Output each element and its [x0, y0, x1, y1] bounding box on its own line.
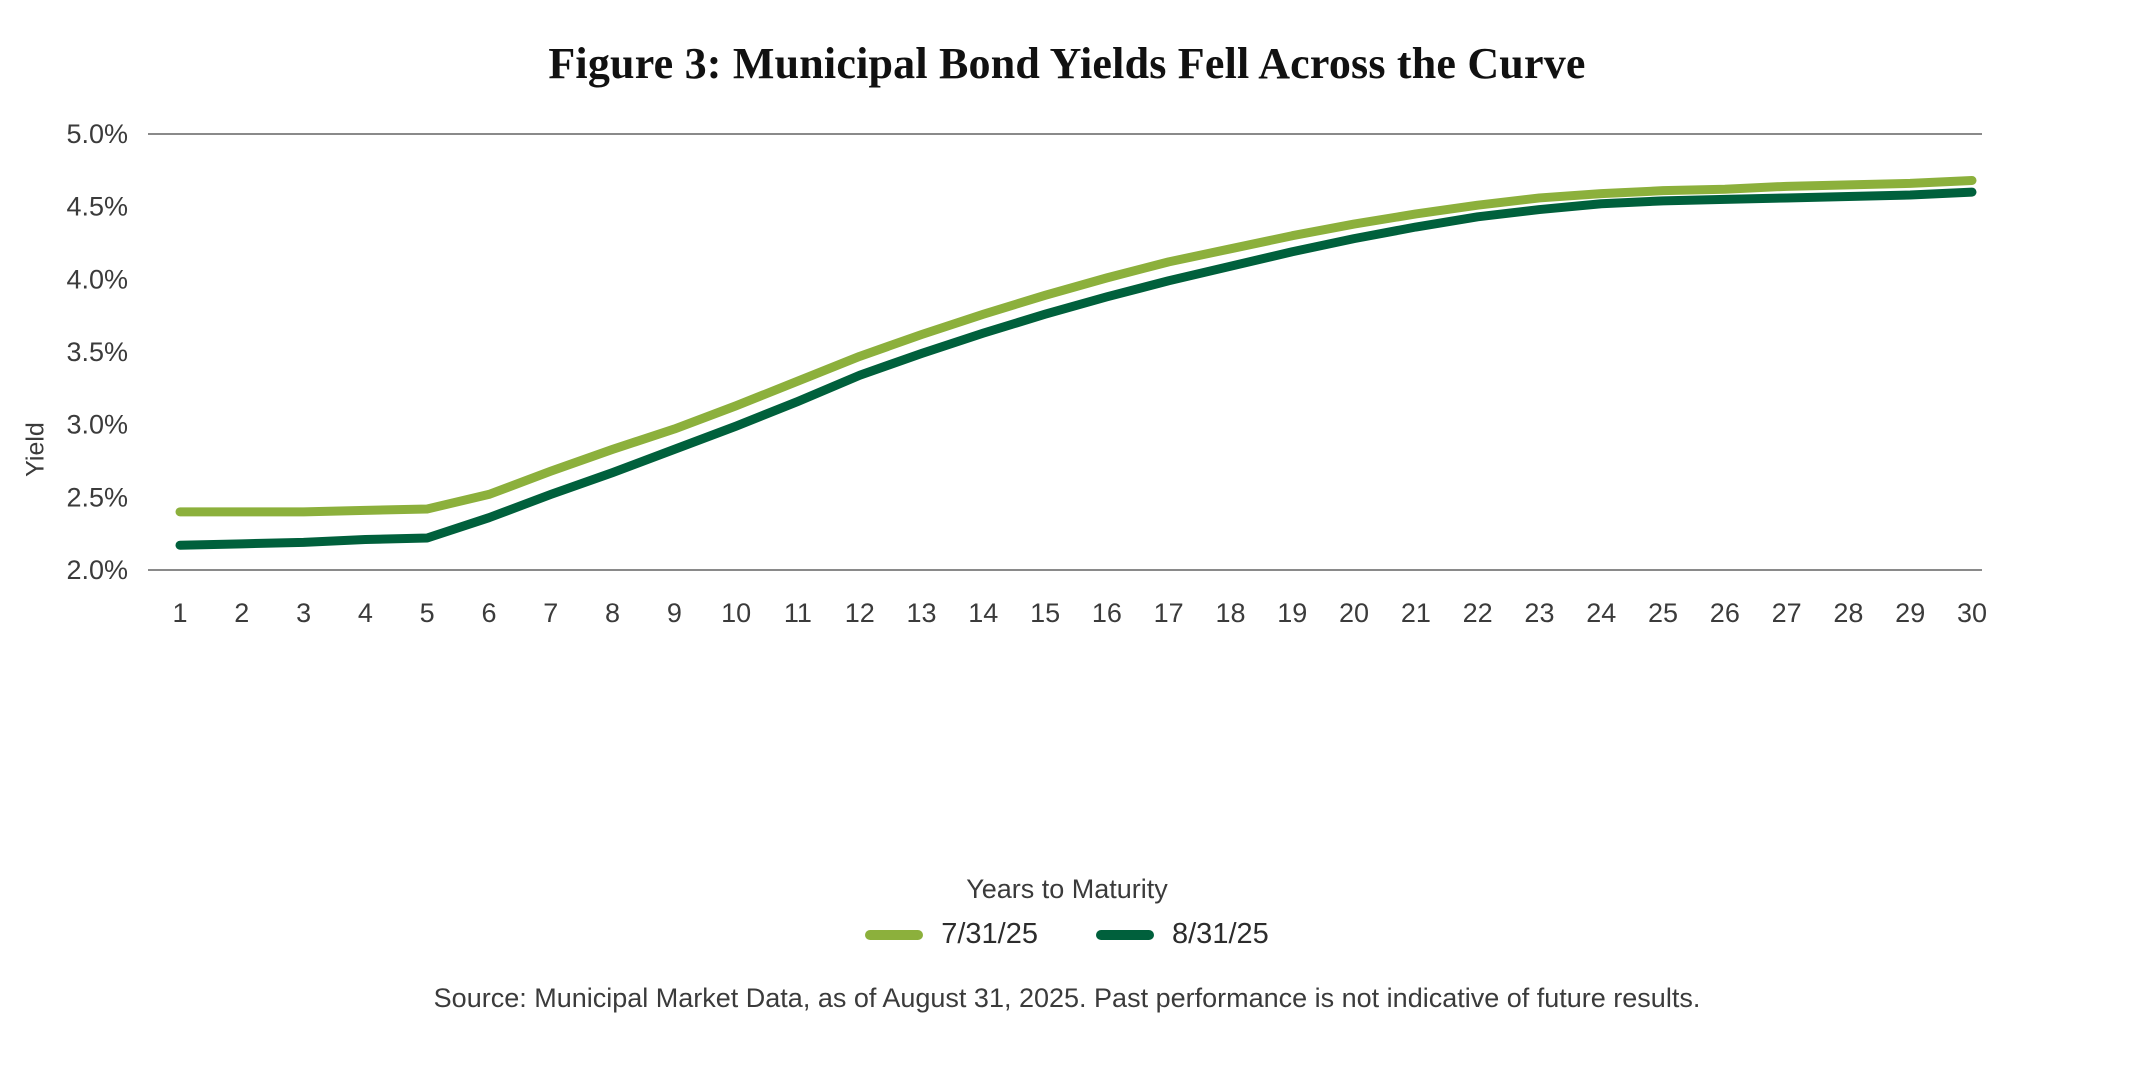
x-axis-tick-label: 15 [1030, 598, 1060, 628]
y-axis-tick-label: 2.5% [66, 482, 128, 512]
y-axis-tick-label: 2.0% [66, 555, 128, 585]
y-axis-tick-label: 4.5% [66, 192, 128, 222]
x-axis-title: Years to Maturity [0, 874, 2134, 905]
x-axis-tick-label: 24 [1586, 598, 1616, 628]
legend-swatch-series-1 [865, 930, 923, 940]
x-axis-tick-label: 8 [605, 598, 620, 628]
x-axis-tick-label: 13 [906, 598, 936, 628]
x-axis-tick-label: 16 [1092, 598, 1122, 628]
legend-label-series-1: 7/31/25 [941, 918, 1038, 951]
x-axis-tick-label: 23 [1524, 598, 1554, 628]
x-axis-tick-label: 22 [1463, 598, 1493, 628]
x-axis-tick-label: 3 [296, 598, 311, 628]
figure-container: Figure 3: Municipal Bond Yields Fell Acr… [0, 0, 2134, 1067]
x-axis-tick-label: 27 [1772, 598, 1802, 628]
x-axis-tick-label: 17 [1154, 598, 1184, 628]
series-line-2 [180, 192, 1972, 545]
legend-swatch-series-2 [1096, 930, 1154, 940]
x-axis-tick-label: 10 [721, 598, 751, 628]
x-axis-tick-label: 18 [1215, 598, 1245, 628]
x-axis-tick-label: 7 [543, 598, 558, 628]
x-axis-tick-label: 28 [1833, 598, 1863, 628]
x-axis-tick-label: 11 [784, 598, 812, 628]
x-axis-tick-label: 2 [234, 598, 249, 628]
y-axis-tick-label: 3.5% [66, 337, 128, 367]
x-axis-tick-label: 14 [968, 598, 998, 628]
legend-label-series-2: 8/31/25 [1172, 918, 1269, 951]
series-line-1 [180, 181, 1972, 512]
x-axis-tick-label: 25 [1648, 598, 1678, 628]
x-axis-tick-label: 26 [1710, 598, 1740, 628]
x-axis-tick-label: 12 [845, 598, 875, 628]
legend-item-series-1[interactable]: 7/31/25 [865, 918, 1038, 951]
chart-legend: 7/31/25 8/31/25 [0, 918, 2134, 951]
line-chart-plot: 5.0%4.5%4.0%3.5%3.0%2.5%2.0%123456789101… [0, 0, 2134, 1067]
x-axis-tick-label: 29 [1895, 598, 1925, 628]
y-axis-tick-label: 3.0% [66, 410, 128, 440]
y-axis-tick-label: 5.0% [66, 119, 128, 149]
x-axis-tick-label: 21 [1401, 598, 1431, 628]
x-axis-tick-label: 6 [481, 598, 496, 628]
x-axis-tick-label: 20 [1339, 598, 1369, 628]
x-axis-tick-label: 5 [420, 598, 435, 628]
x-axis-tick-label: 30 [1957, 598, 1987, 628]
source-note: Source: Municipal Market Data, as of Aug… [0, 983, 2134, 1014]
x-axis-tick-label: 9 [667, 598, 682, 628]
legend-item-series-2[interactable]: 8/31/25 [1096, 918, 1269, 951]
x-axis-tick-label: 1 [172, 598, 187, 628]
x-axis-tick-label: 4 [358, 598, 373, 628]
y-axis-tick-label: 4.0% [66, 264, 128, 294]
x-axis-tick-label: 19 [1277, 598, 1307, 628]
